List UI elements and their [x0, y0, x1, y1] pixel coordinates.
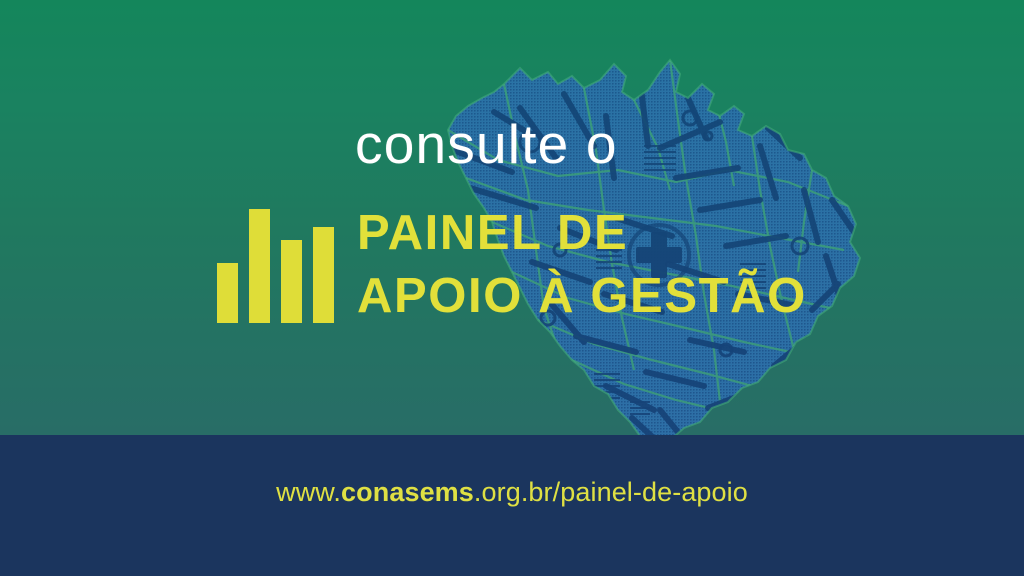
bar-chart-icon — [217, 205, 335, 323]
page-title-line-2: APOIO À GESTÃO — [357, 272, 807, 321]
headline-block: consulte o PAINEL DE APOIO À GESTÃO — [0, 0, 1024, 435]
bar-chart-bar — [249, 209, 270, 323]
bar-chart-bar — [217, 263, 238, 323]
url-brand: conasems — [341, 477, 474, 507]
kicker-text: consulte o — [355, 117, 618, 172]
url-prefix: www. — [276, 477, 341, 507]
promotional-banner: consulte o PAINEL DE APOIO À GESTÃO www.… — [0, 0, 1024, 576]
footer-band: www.conasems.org.br/painel-de-apoio — [0, 435, 1024, 576]
bar-chart-bar — [313, 227, 334, 323]
website-url[interactable]: www.conasems.org.br/painel-de-apoio — [0, 477, 1024, 508]
url-suffix: .org.br/painel-de-apoio — [474, 477, 748, 507]
page-title-line-1: PAINEL DE — [357, 209, 628, 258]
bar-chart-bar — [281, 240, 302, 323]
